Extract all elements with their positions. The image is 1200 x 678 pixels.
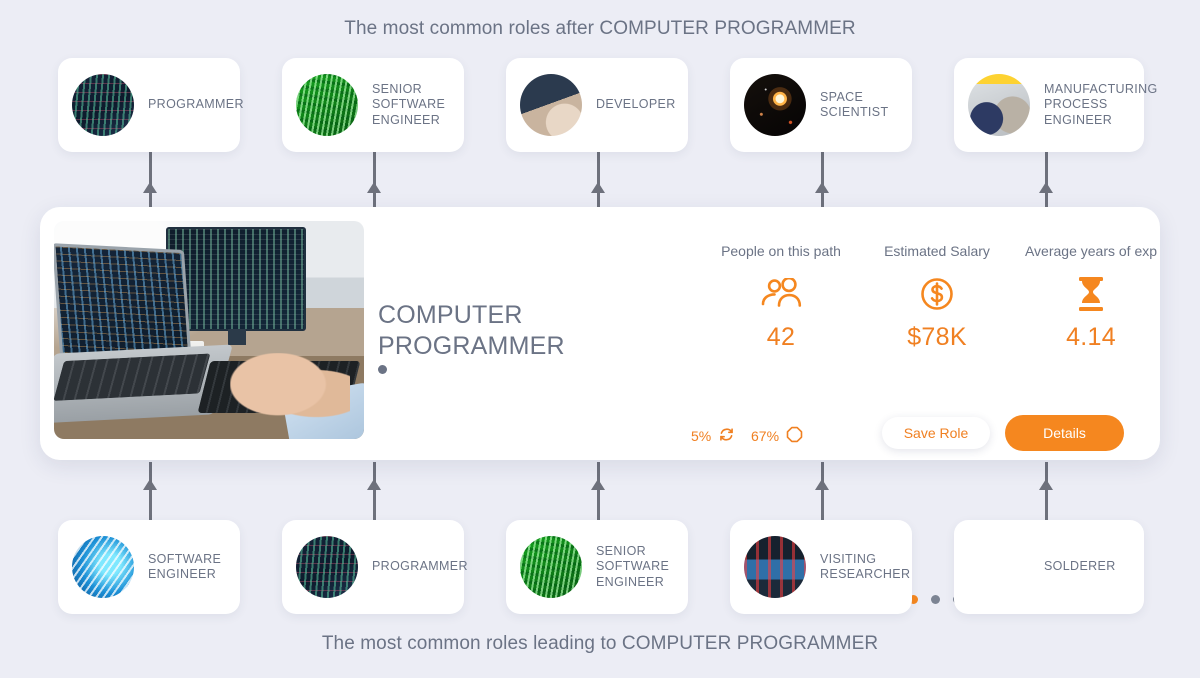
metric-growth: 5% <box>691 426 735 446</box>
prev-role-label-3: SENIOR SOFTWARE ENGINEER <box>596 544 669 591</box>
arrow-head-up-icon <box>367 479 381 490</box>
arrow-head-up-icon <box>143 182 157 193</box>
space-thumb <box>744 74 806 136</box>
connector-stem <box>149 152 152 208</box>
details-button[interactable]: Details <box>1005 415 1124 451</box>
connector-arrow-prev-3 <box>591 462 605 520</box>
connector-stem <box>1045 152 1048 208</box>
connector-stem <box>373 462 376 520</box>
connector-stem <box>1045 462 1048 520</box>
connector-stem <box>597 152 600 208</box>
next-role-label-4: SPACE SCIENTIST <box>820 90 888 121</box>
prev-role-label-5: SOLDERER <box>1044 559 1116 575</box>
connector-stem <box>821 152 824 208</box>
bottom-caption: The most common roles leading to COMPUTE… <box>0 633 1200 655</box>
connector-stem <box>821 462 824 520</box>
next-role-label-1: PROGRAMMER <box>148 97 244 113</box>
focus-role-card: COMPUTER PROGRAMMER People on this path … <box>40 207 1160 460</box>
metric-share-value: 67% <box>751 428 779 444</box>
connector-stem <box>373 152 376 208</box>
connector-arrow-next-1 <box>143 152 157 208</box>
carousel-dot-2[interactable] <box>931 595 940 604</box>
prev-role-card-5[interactable]: SOLDERER <box>954 520 1144 614</box>
prev-role-card-4[interactable]: VISITING RESEARCHER <box>730 520 912 614</box>
focus-role-title: COMPUTER PROGRAMMER <box>378 300 565 362</box>
arrow-head-up-icon <box>591 479 605 490</box>
prev-role-label-2: PROGRAMMER <box>372 559 468 575</box>
lab-thumb <box>744 536 806 598</box>
stat-label: Average years of exp <box>978 243 1200 259</box>
hands-graphic <box>230 353 350 431</box>
blue-swirl-thumb <box>72 536 134 598</box>
hourglass-icon <box>978 275 1200 313</box>
next-role-card-4[interactable]: SPACE SCIENTIST <box>730 58 912 152</box>
matrix-green-thumb <box>520 536 582 598</box>
stat-value: 4.14 <box>978 323 1200 352</box>
octagon-outline-icon <box>786 426 803 446</box>
solder-thumb <box>968 536 1030 598</box>
metric-growth-value: 5% <box>691 428 711 444</box>
next-role-card-5[interactable]: MANUFACTURING PROCESS ENGINEER <box>954 58 1144 152</box>
connector-stem <box>597 462 600 520</box>
prev-role-card-3[interactable]: SENIOR SOFTWARE ENGINEER <box>506 520 688 614</box>
prev-role-label-4: VISITING RESEARCHER <box>820 552 910 583</box>
next-role-label-5: MANUFACTURING PROCESS ENGINEER <box>1044 82 1158 129</box>
next-role-card-2[interactable]: SENIOR SOFTWARE ENGINEER <box>282 58 464 152</box>
career-path-visualization: The most common roles after COMPUTER PRO… <box>0 0 1200 678</box>
laptop-screen-graphic <box>54 243 192 363</box>
arrow-head-up-icon <box>367 182 381 193</box>
focus-role-marker-dot <box>378 365 387 374</box>
prev-role-card-2[interactable]: PROGRAMMER <box>282 520 464 614</box>
desk-thumb <box>520 74 582 136</box>
arrow-head-up-icon <box>1039 182 1053 193</box>
arrow-head-up-icon <box>143 479 157 490</box>
connector-arrow-next-5 <box>1039 152 1053 208</box>
arrow-head-up-icon <box>1039 479 1053 490</box>
code-dark-thumb <box>296 536 358 598</box>
next-role-card-1[interactable]: PROGRAMMER <box>58 58 240 152</box>
connector-stem <box>149 462 152 520</box>
refresh-circle-icon <box>718 426 735 446</box>
prev-role-card-1[interactable]: SOFTWARE ENGINEER <box>58 520 240 614</box>
metric-share: 67% <box>751 426 803 446</box>
arrow-head-up-icon <box>815 479 829 490</box>
connector-arrow-prev-2 <box>367 462 381 520</box>
next-role-label-3: DEVELOPER <box>596 97 676 113</box>
connector-arrow-prev-1 <box>143 462 157 520</box>
top-caption: The most common roles after COMPUTER PRO… <box>0 18 1200 40</box>
matrix-green-thumb <box>296 74 358 136</box>
arrow-head-up-icon <box>815 182 829 193</box>
prev-role-label-1: SOFTWARE ENGINEER <box>148 552 221 583</box>
connector-arrow-prev-5 <box>1039 462 1053 520</box>
connector-arrow-next-3 <box>591 152 605 208</box>
connector-arrow-prev-4 <box>815 462 829 520</box>
factory-thumb <box>968 74 1030 136</box>
stat-average-years-exp: Average years of exp 4.14 <box>978 243 1200 352</box>
next-role-label-2: SENIOR SOFTWARE ENGINEER <box>372 82 445 129</box>
save-role-button[interactable]: Save Role <box>882 417 990 449</box>
connector-arrow-next-2 <box>367 152 381 208</box>
hero-image <box>54 221 364 439</box>
connector-arrow-next-4 <box>815 152 829 208</box>
arrow-head-up-icon <box>591 182 605 193</box>
next-role-card-3[interactable]: DEVELOPER <box>506 58 688 152</box>
code-dark-thumb <box>72 74 134 136</box>
